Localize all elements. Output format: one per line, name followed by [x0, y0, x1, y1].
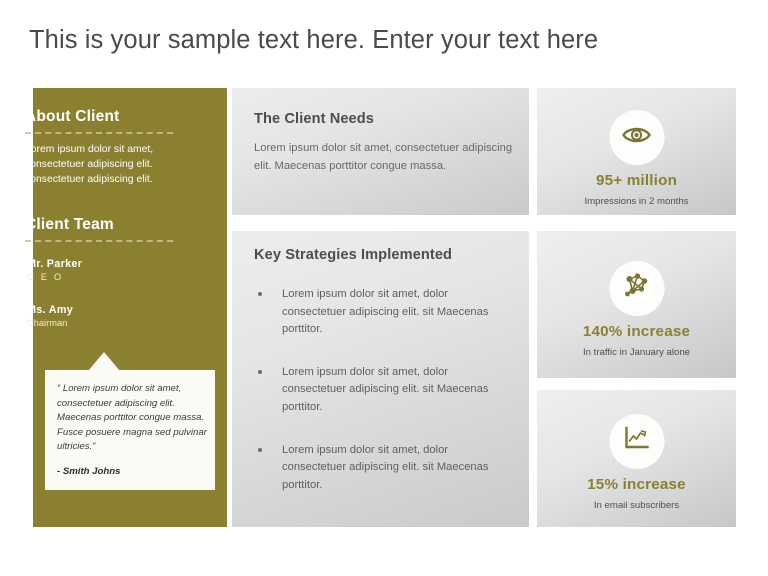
stat-icon-circle [609, 110, 664, 165]
client-needs-body: Lorem ipsum dolor sit amet, consectetuer… [254, 140, 516, 175]
list-item-text: Lorem ipsum dolor sit amet, dolor consec… [282, 288, 488, 335]
bullet-icon [258, 370, 262, 374]
bullet-icon [258, 448, 262, 452]
line-chart-icon [623, 426, 651, 457]
stat-value: 140% increase [537, 323, 736, 340]
eye-icon [622, 125, 652, 150]
stat-caption: Impressions in 2 months [537, 196, 736, 207]
page-title: This is your sample text here. Enter you… [29, 26, 598, 55]
stat-value: 15% increase [537, 476, 736, 493]
quote-author: - Smith Johns [57, 466, 120, 477]
client-team-heading: Client Team [25, 216, 114, 234]
team-member-role: C E O [27, 272, 82, 282]
list-item-text: Lorem ipsum dolor sit amet, dolor consec… [282, 444, 488, 491]
client-team-divider [25, 240, 173, 242]
about-client-body: Lorem ipsum dolor sit amet, consectetuer… [25, 142, 185, 188]
stat-icon-circle [609, 261, 664, 316]
team-member: Ms. Amy Chairman [27, 304, 73, 328]
quote-text: “ Lorem ipsum dolor sit amet, consectetu… [57, 382, 207, 455]
team-member-name: Mr. Parker [27, 258, 82, 270]
molecule-network-icon [622, 271, 652, 306]
list-item: Lorem ipsum dolor sit amet, dolor consec… [254, 364, 509, 417]
team-member-name: Ms. Amy [27, 304, 73, 316]
stat-value: 95+ million [537, 172, 736, 189]
stat-caption: In email subscribers [537, 500, 736, 511]
list-item: Lorem ipsum dolor sit amet, dolor consec… [254, 442, 509, 495]
stat-card-impressions: 95+ million Impressions in 2 months [537, 88, 736, 215]
bullet-icon [258, 292, 262, 296]
list-item-text: Lorem ipsum dolor sit amet, dolor consec… [282, 366, 488, 413]
team-member-role: Chairman [27, 318, 73, 328]
stat-card-subscribers: 15% increase In email subscribers [537, 390, 736, 527]
key-strategies-list: Lorem ipsum dolor sit amet, dolor consec… [254, 286, 509, 519]
list-item: Lorem ipsum dolor sit amet, dolor consec… [254, 286, 509, 339]
key-strategies-heading: Key Strategies Implemented [254, 247, 452, 263]
stat-card-traffic: 140% increase In traffic in January alon… [537, 231, 736, 378]
stat-caption: In traffic in January alone [537, 347, 736, 358]
team-member: Mr. Parker C E O [27, 258, 82, 282]
quote-callout-arrow [88, 352, 120, 371]
about-client-divider [25, 132, 173, 134]
client-needs-heading: The Client Needs [254, 111, 374, 127]
stat-icon-circle [609, 414, 664, 469]
about-client-heading: About Client [25, 108, 120, 126]
